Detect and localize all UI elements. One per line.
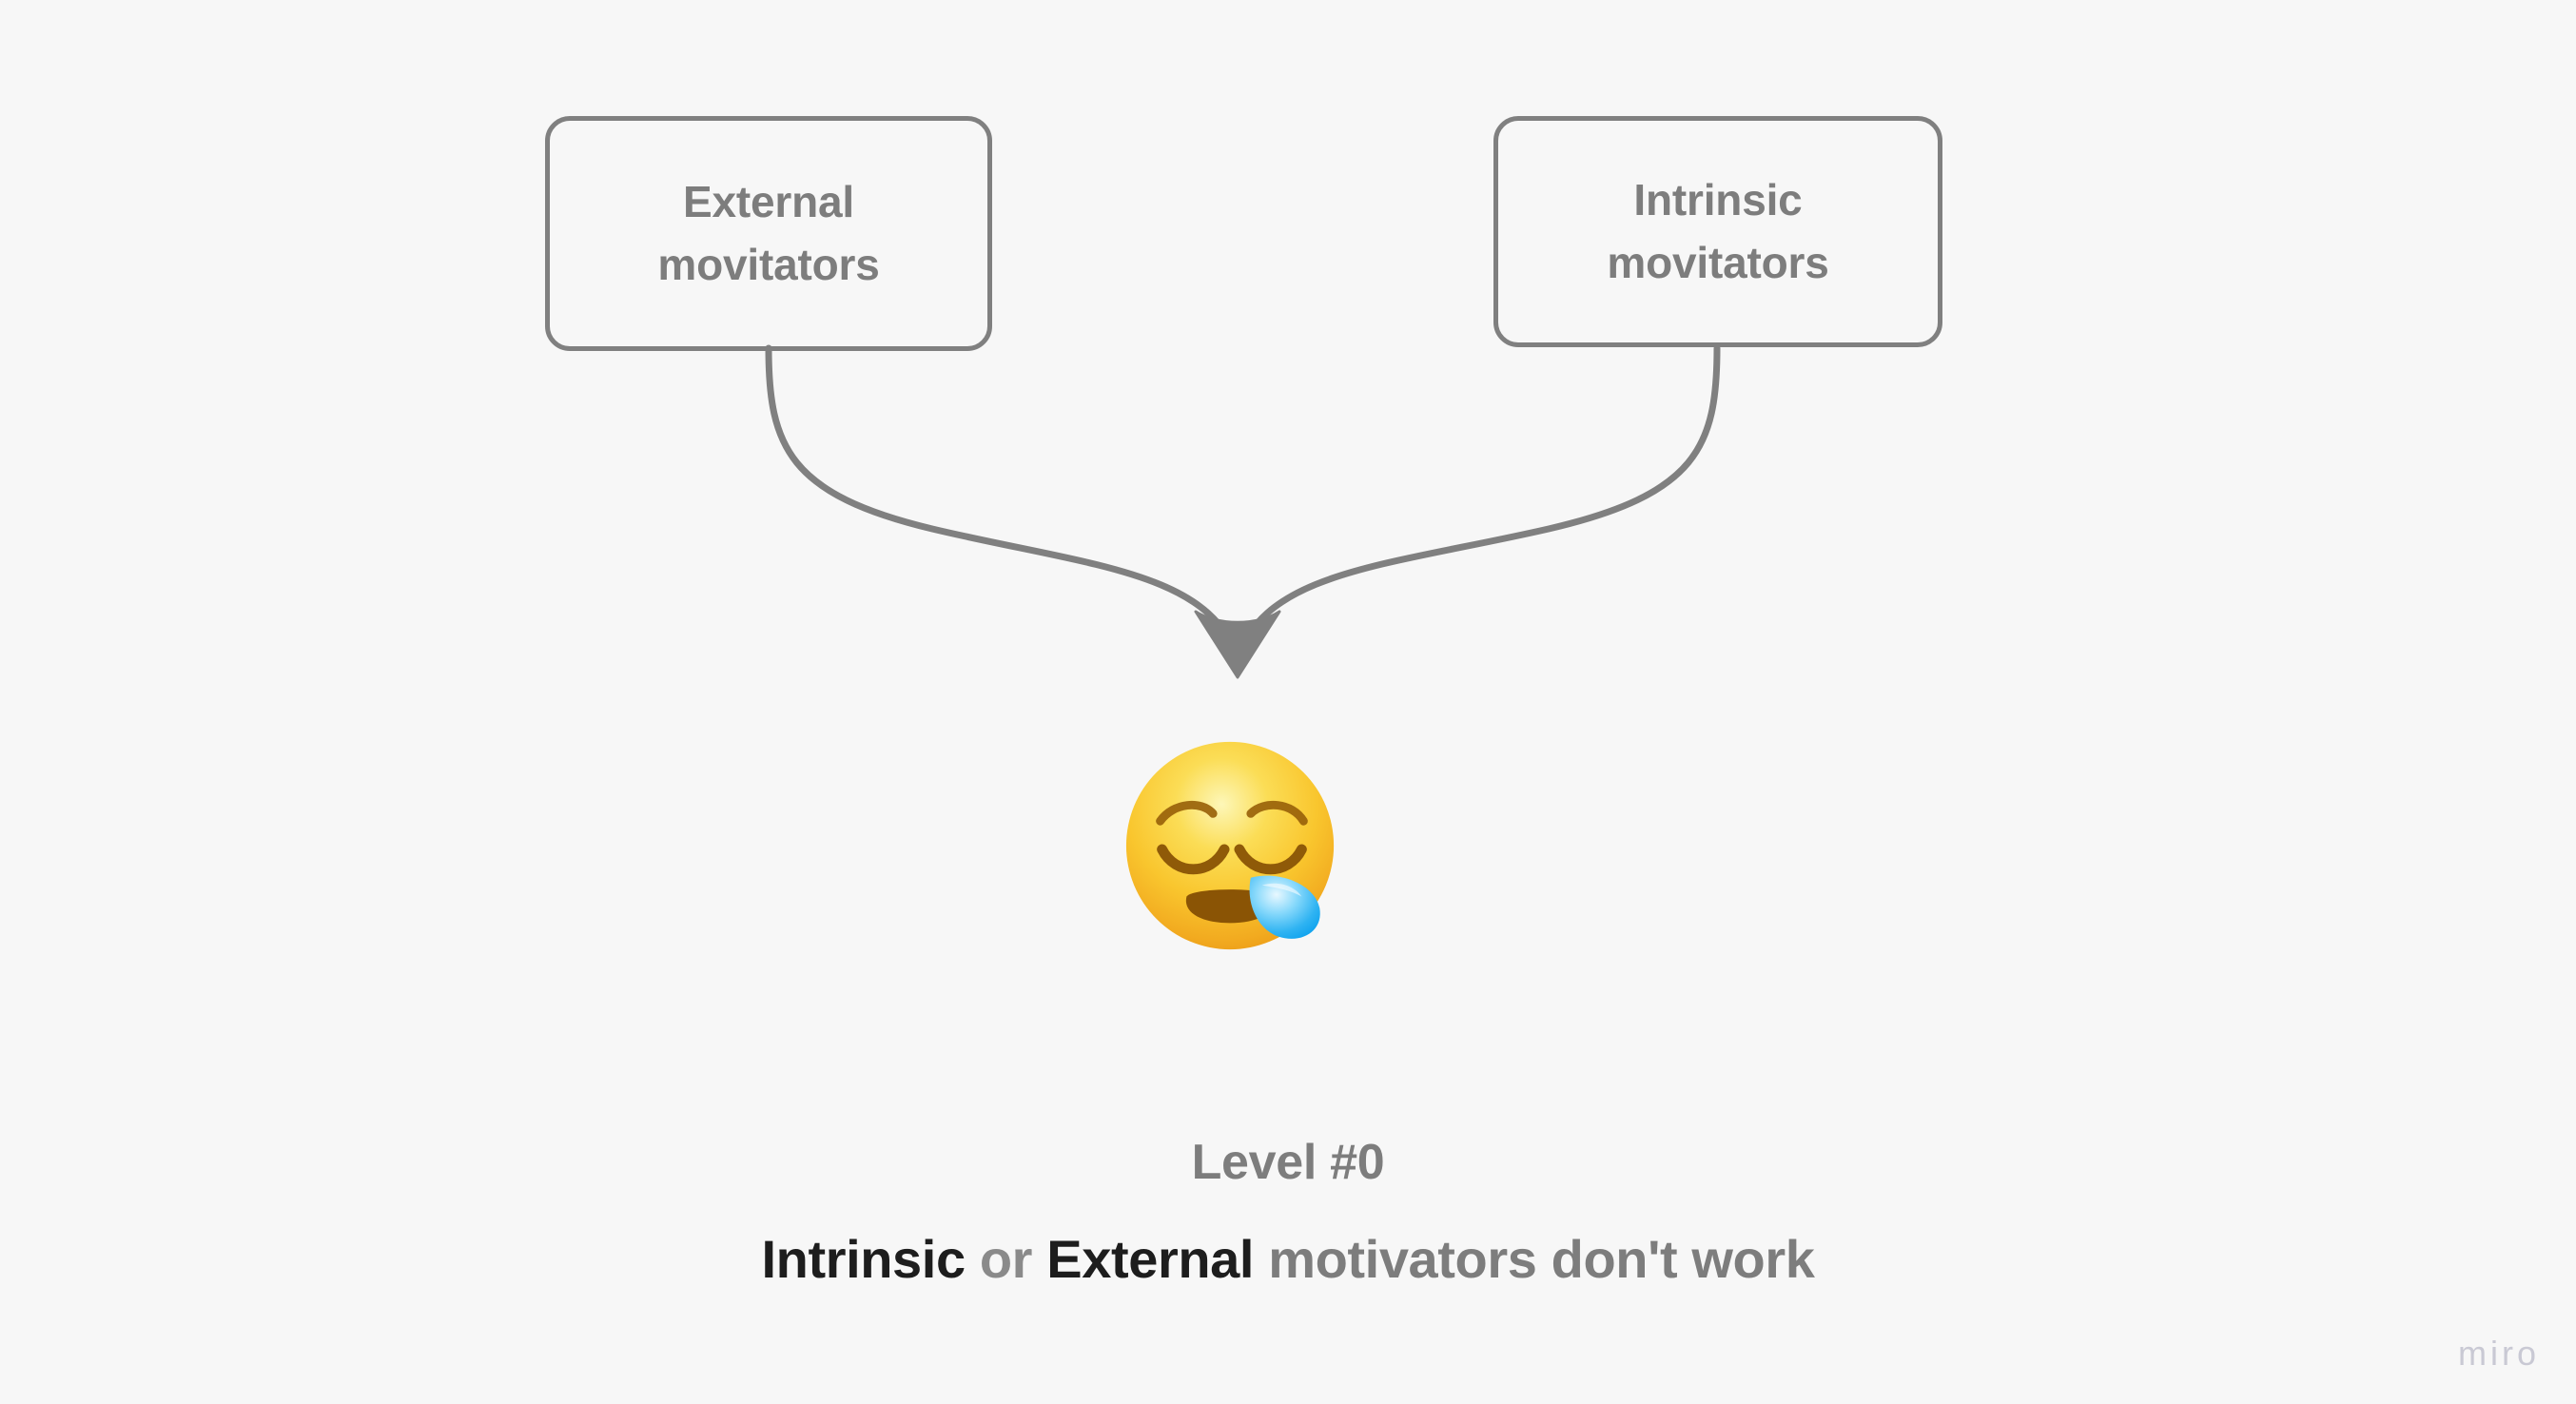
caption-statement: Intrinsic or External motivators don't w…	[0, 1226, 2576, 1293]
caption-word-or: or	[966, 1229, 1047, 1289]
sleepy-face-emoji[interactable]	[1119, 734, 1345, 961]
miro-board-canvas: External movitators Intrinsic movitators	[0, 0, 2576, 1404]
caption-word-external: External	[1046, 1229, 1254, 1289]
node-external-motivators-label: External movitators	[657, 171, 879, 296]
node-external-motivators[interactable]: External movitators	[545, 116, 992, 351]
sleepy-face-emoji-graphic	[1119, 734, 1345, 961]
miro-watermark: miro	[2458, 1334, 2540, 1374]
caption-word-tail: motivators don't work	[1254, 1229, 1814, 1289]
node-intrinsic-motivators-label: Intrinsic movitators	[1607, 169, 1828, 294]
caption-word-intrinsic: Intrinsic	[761, 1229, 965, 1289]
caption-block: Level #0 Intrinsic or External motivator…	[0, 1132, 2576, 1293]
node-intrinsic-motivators[interactable]: Intrinsic movitators	[1493, 116, 1942, 347]
caption-level-label: Level #0	[0, 1132, 2576, 1194]
